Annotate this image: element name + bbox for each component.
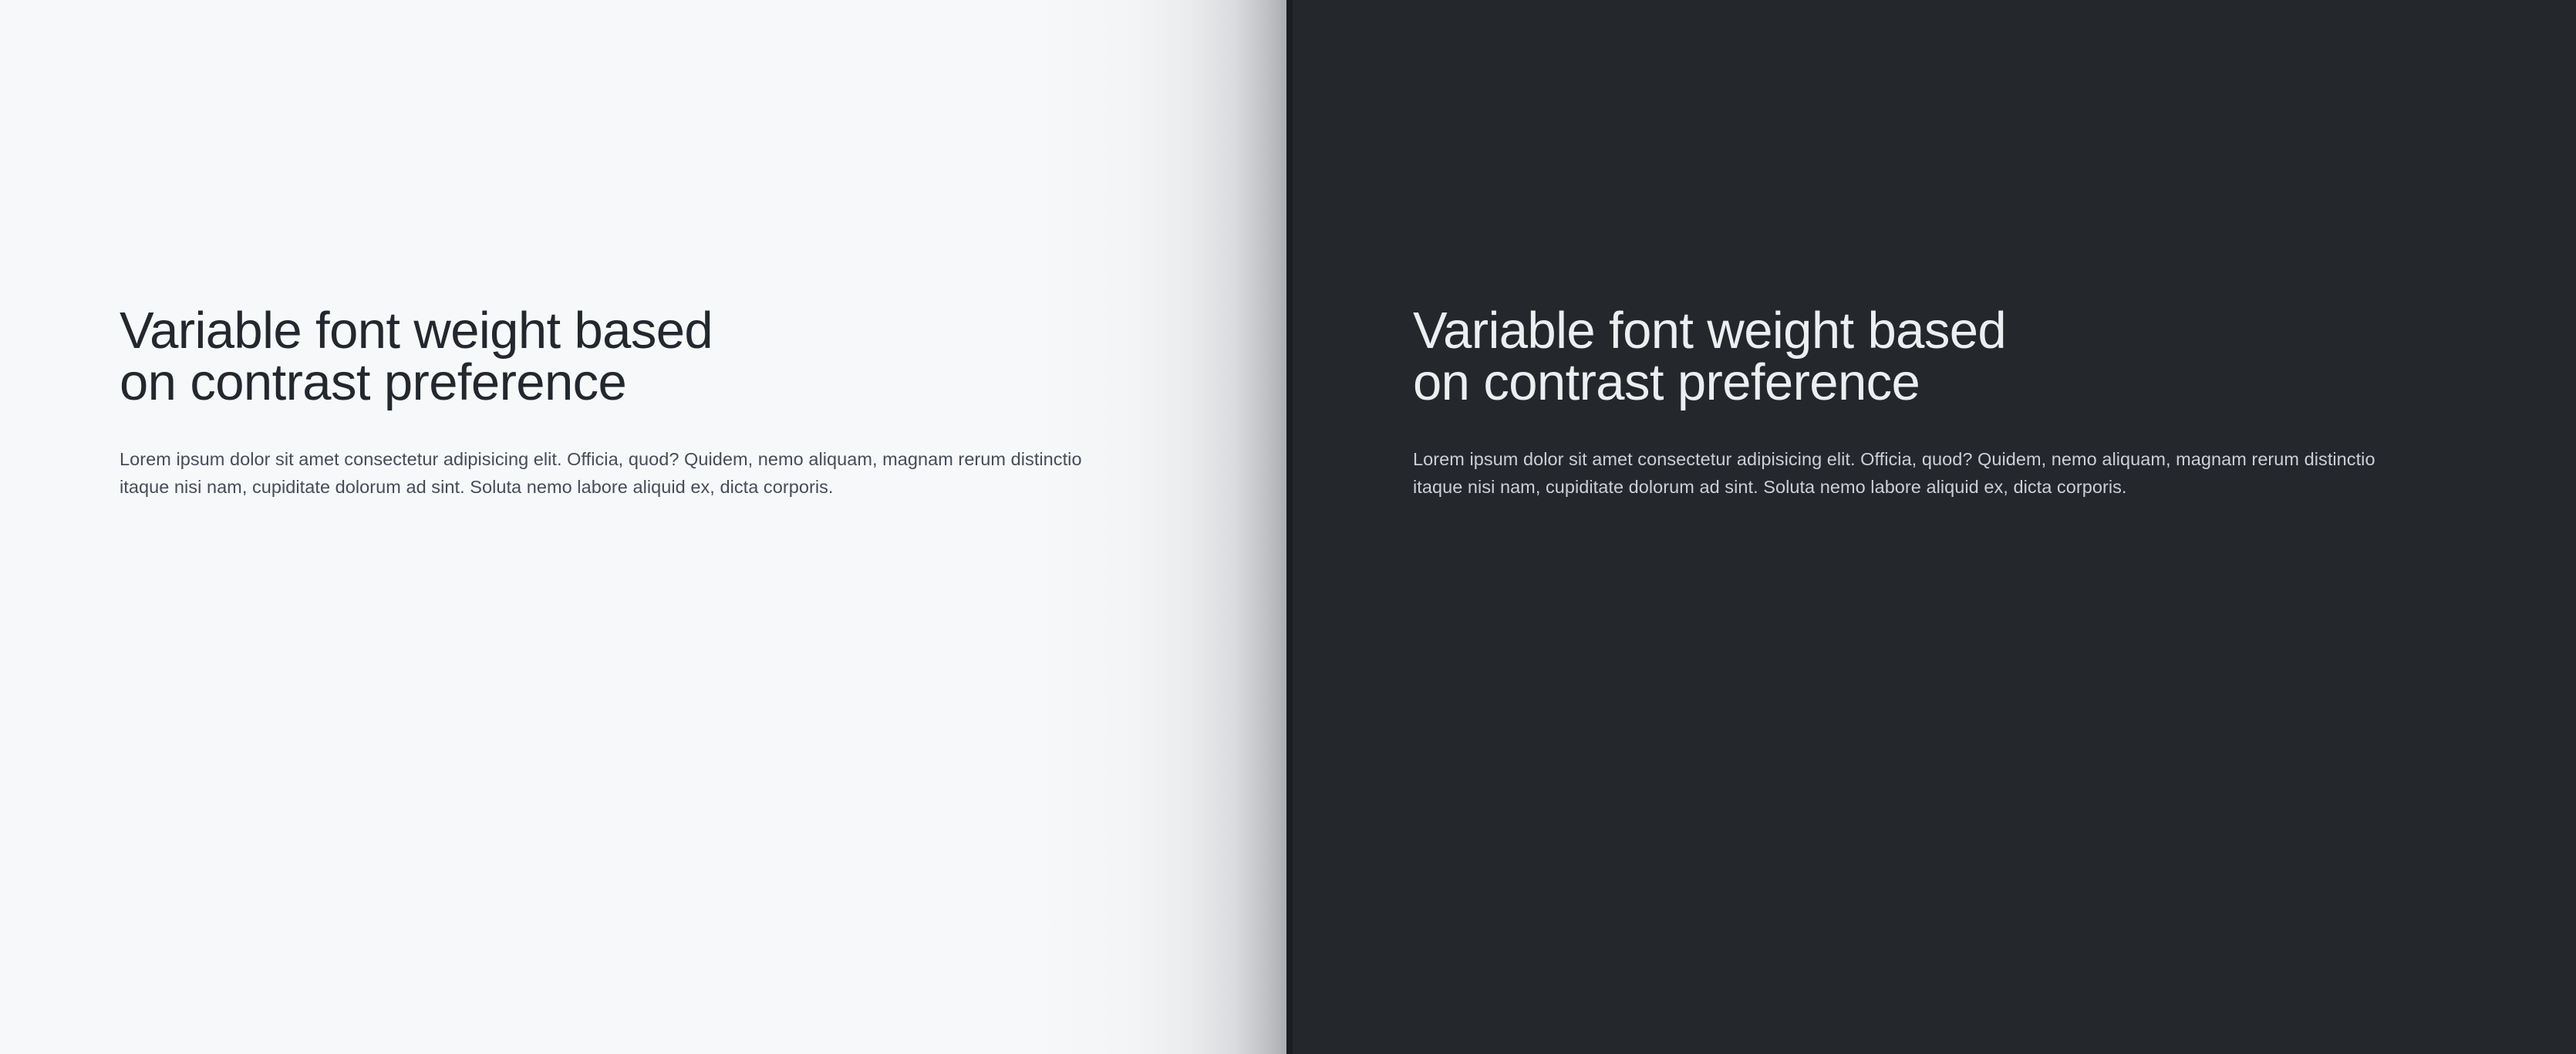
light-panel-heading-line-1: Variable font weight based [120, 305, 1122, 356]
contrast-comparison-stage: Variable font weight based on contrast p… [0, 0, 2576, 1054]
light-theme-panel: Variable font weight based on contrast p… [0, 0, 1293, 1054]
light-panel-heading: Variable font weight based on contrast p… [120, 305, 1122, 408]
dark-theme-panel: Variable font weight based on contrast p… [1293, 0, 2576, 1054]
panel-divider-seam [1286, 0, 1293, 1054]
dark-panel-heading-line-1: Variable font weight based [1413, 305, 2416, 356]
dark-panel-heading-line-2: on contrast preference [1413, 356, 2416, 408]
light-panel-paragraph: Lorem ipsum dolor sit amet consectetur a… [120, 446, 1114, 501]
dark-panel-paragraph: Lorem ipsum dolor sit amet consectetur a… [1413, 446, 2408, 501]
panel-edge-shadow [1032, 0, 1286, 1054]
light-panel-heading-line-2: on contrast preference [120, 356, 1122, 408]
dark-panel-heading: Variable font weight based on contrast p… [1413, 305, 2416, 408]
